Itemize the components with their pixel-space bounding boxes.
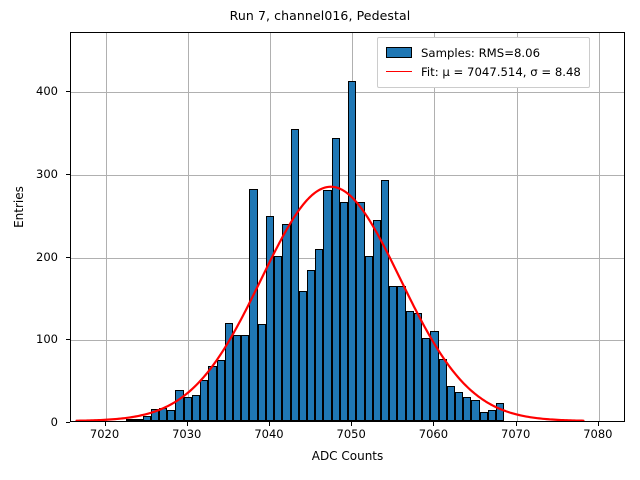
legend-samples-label: Samples: RMS=8.06 <box>421 46 540 60</box>
y-tick-label: 300 <box>0 167 58 181</box>
y-tick-label: 0 <box>0 415 58 429</box>
y-tick-mark <box>66 91 70 92</box>
x-axis-label: ADC Counts <box>70 449 625 463</box>
chart-figure: Run 7, channel016, Pedestal 702070307040… <box>0 0 640 480</box>
legend-samples-swatch-icon <box>386 47 412 58</box>
y-tick-label: 400 <box>0 84 58 98</box>
chart-title: Run 7, channel016, Pedestal <box>0 8 640 23</box>
x-tick-mark <box>105 422 106 426</box>
y-tick-mark <box>66 422 70 423</box>
x-tick-label: 7060 <box>419 427 448 441</box>
y-tick-mark <box>66 174 70 175</box>
x-tick-mark <box>516 422 517 426</box>
y-axis-label: Entries <box>12 147 26 267</box>
y-tick-label: 100 <box>0 332 58 346</box>
x-tick-label: 7040 <box>254 427 283 441</box>
legend-entry-fit: Fit: μ = 7047.514, σ = 8.48 <box>386 62 581 81</box>
legend-fit-line-icon <box>386 71 412 72</box>
x-tick-mark <box>598 422 599 426</box>
x-tick-label: 7050 <box>337 427 366 441</box>
x-tick-mark <box>433 422 434 426</box>
y-tick-mark <box>66 257 70 258</box>
x-tick-mark <box>351 422 352 426</box>
fit-curve-path <box>77 187 584 421</box>
gaussian-fit-curve <box>71 33 624 421</box>
legend-entry-samples: Samples: RMS=8.06 <box>386 43 581 62</box>
y-tick-label: 200 <box>0 250 58 264</box>
x-tick-label: 7020 <box>90 427 119 441</box>
y-tick-mark <box>66 339 70 340</box>
chart-legend: Samples: RMS=8.06 Fit: μ = 7047.514, σ =… <box>377 37 590 88</box>
x-tick-label: 7070 <box>501 427 530 441</box>
plot-area <box>70 32 625 422</box>
x-tick-label: 7080 <box>583 427 612 441</box>
x-tick-mark <box>187 422 188 426</box>
legend-fit-label: Fit: μ = 7047.514, σ = 8.48 <box>421 65 581 79</box>
x-tick-label: 7030 <box>172 427 201 441</box>
x-tick-mark <box>269 422 270 426</box>
